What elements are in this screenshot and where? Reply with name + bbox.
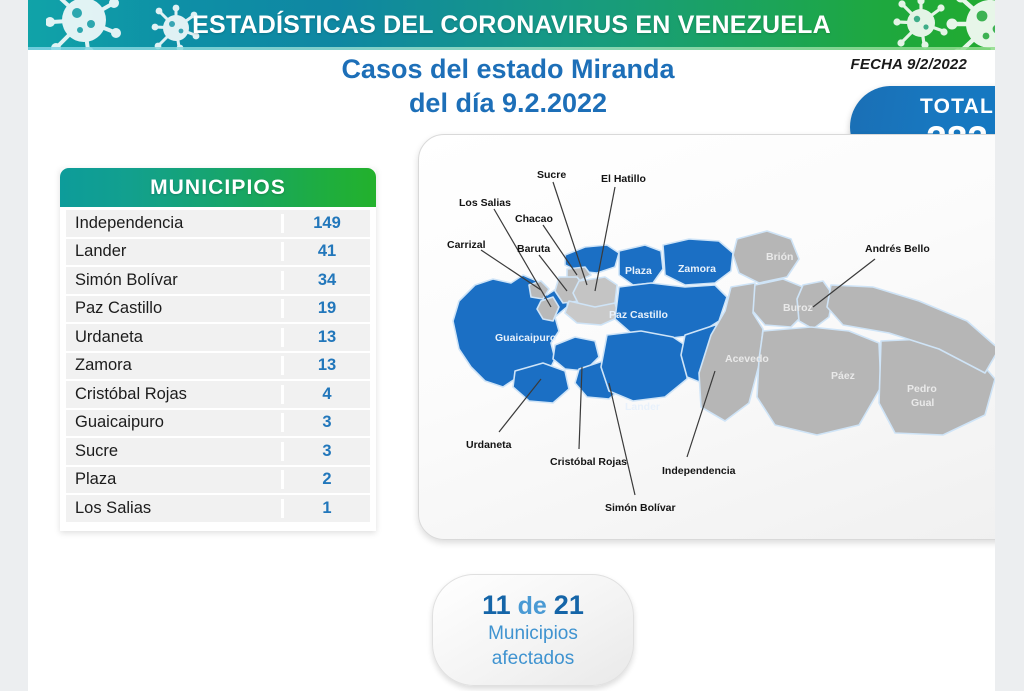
map-callout-label: Los Salias bbox=[459, 197, 511, 209]
municipality-cases: 34 bbox=[281, 271, 370, 290]
region-urdaneta bbox=[513, 363, 569, 403]
table-row: Urdaneta13 bbox=[66, 324, 370, 351]
page-title-line1: Casos del estado Miranda bbox=[168, 52, 848, 86]
table-row: Lander41 bbox=[66, 239, 370, 266]
table-row: Paz Castillo19 bbox=[66, 296, 370, 323]
table-row: Plaza2 bbox=[66, 467, 370, 494]
map-region-label: Brión bbox=[766, 251, 793, 263]
affected-count-line: 11 de 21 bbox=[482, 590, 584, 621]
table-row: Simón Bolívar34 bbox=[66, 267, 370, 294]
municipality-name: Sucre bbox=[66, 442, 281, 461]
total-municipalities: 21 bbox=[554, 590, 584, 620]
region-zamora bbox=[663, 239, 733, 285]
region-lander bbox=[601, 331, 691, 401]
affected-municipalities-badge: 11 de 21 Municipios afectados bbox=[432, 574, 634, 686]
municipality-name: Lander bbox=[66, 242, 281, 261]
table-row: Independencia149 bbox=[66, 210, 370, 237]
municipality-name: Urdaneta bbox=[66, 328, 281, 347]
municipality-cases: 3 bbox=[281, 413, 370, 432]
map-callout-label: Simón Bolívar bbox=[605, 502, 676, 514]
page-title-line2: del día 9.2.2022 bbox=[168, 86, 848, 120]
municipality-cases: 13 bbox=[281, 356, 370, 375]
table-row: Zamora13 bbox=[66, 353, 370, 380]
map-region-label: Acevedo bbox=[725, 353, 769, 365]
municipality-cases: 1 bbox=[281, 499, 370, 518]
map-region-label: Plaza bbox=[625, 265, 652, 277]
map-callout-label: Urdaneta bbox=[466, 439, 512, 451]
municipality-name: Guaicaipuro bbox=[66, 413, 281, 432]
map-region-label: Guaicaipuro bbox=[495, 332, 556, 344]
infographic-page: ESTADÍSTICAS DEL CORONAVIRUS EN VENEZUEL… bbox=[28, 0, 995, 691]
municipality-cases: 2 bbox=[281, 470, 370, 489]
page-title: Casos del estado Miranda del día 9.2.202… bbox=[168, 52, 848, 120]
table-row: Cristóbal Rojas4 bbox=[66, 381, 370, 408]
map-region-label: Paz Castillo bbox=[609, 309, 668, 321]
header-banner: ESTADÍSTICAS DEL CORONAVIRUS EN VENEZUEL… bbox=[28, 0, 995, 50]
affected-count: 11 bbox=[482, 590, 511, 620]
affected-label-line2: afectados bbox=[492, 646, 574, 671]
table-body: Independencia149Lander41Simón Bolívar34P… bbox=[60, 207, 376, 531]
municipality-cases: 4 bbox=[281, 385, 370, 404]
map-callout-label: Cristóbal Rojas bbox=[550, 456, 627, 468]
map-region-label: Lander bbox=[625, 401, 660, 413]
map-callout-label: Chacao bbox=[515, 213, 553, 225]
municipios-table: MUNICIPIOS Independencia149Lander41Simón… bbox=[60, 168, 376, 531]
map-region-label: Pedro bbox=[907, 383, 937, 395]
municipality-cases: 19 bbox=[281, 299, 370, 318]
municipality-name: Plaza bbox=[66, 470, 281, 489]
map-region-label: Buroz bbox=[783, 302, 813, 314]
map-callout-label: Baruta bbox=[517, 243, 550, 255]
map-region-label: Zamora bbox=[678, 263, 716, 275]
table-header: MUNICIPIOS bbox=[60, 168, 376, 207]
affected-label-line1: Municipios bbox=[488, 621, 578, 646]
map-callout-label: Andrés Bello bbox=[865, 243, 930, 255]
municipality-name: Independencia bbox=[66, 214, 281, 233]
table-row: Los Salias1 bbox=[66, 495, 370, 522]
map-region-label: Gual bbox=[911, 397, 934, 409]
region-paez bbox=[757, 327, 881, 435]
municipality-name: Cristóbal Rojas bbox=[66, 385, 281, 404]
table-row: Sucre3 bbox=[66, 438, 370, 465]
municipality-name: Paz Castillo bbox=[66, 299, 281, 318]
municipality-name: Los Salias bbox=[66, 499, 281, 518]
municipality-cases: 41 bbox=[281, 242, 370, 261]
municipality-name: Simón Bolívar bbox=[66, 271, 281, 290]
map-callout-label: Independencia bbox=[662, 465, 736, 477]
map-callout-label: El Hatillo bbox=[601, 173, 646, 185]
miranda-map: CarrizalLos SaliasBarutaChacaoSucreEl Ha… bbox=[418, 134, 995, 540]
banner-title: ESTADÍSTICAS DEL CORONAVIRUS EN VENEZUEL… bbox=[28, 0, 995, 50]
banner-underline bbox=[28, 47, 995, 50]
municipality-name: Zamora bbox=[66, 356, 281, 375]
municipality-cases: 149 bbox=[281, 214, 370, 233]
map-region-label: Páez bbox=[831, 370, 855, 382]
affected-connector: de bbox=[518, 592, 547, 620]
table-row: Guaicaipuro3 bbox=[66, 410, 370, 437]
map-callout-label: Sucre bbox=[537, 169, 566, 181]
map-callout-label: Carrizal bbox=[447, 239, 486, 251]
date-label: FECHA 9/2/2022 bbox=[851, 56, 967, 73]
total-label: TOTAL bbox=[920, 95, 994, 119]
municipality-cases: 13 bbox=[281, 328, 370, 347]
municipality-cases: 3 bbox=[281, 442, 370, 461]
